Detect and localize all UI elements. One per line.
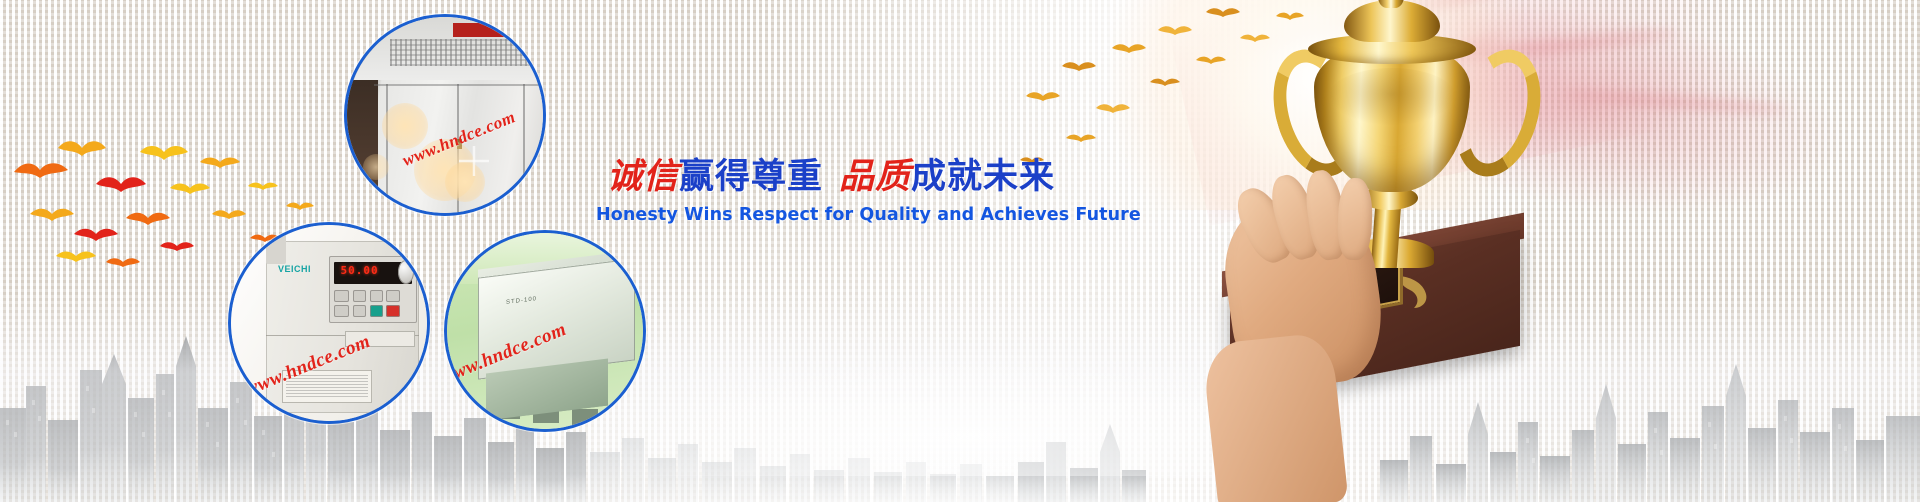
headline-subtitle: Honesty Wins Respect for Quality and Ach… [596,205,1066,225]
inverter-display-value: 50.00 [340,264,378,277]
trophy-engraving [1328,68,1456,126]
product-photo-inverter[interactable]: VEICHI 50.00 www.hndce.com [228,222,430,424]
finger-4 [1337,177,1374,260]
headline-segment1-red: 诚信 [607,157,679,197]
plaque-scroll-right-icon [1396,272,1434,312]
product-photo-transformer-box[interactable]: STD-100 STD-100 www.hndce.com [444,230,646,432]
product-photo-cabinet[interactable]: www.hndce.com [344,14,546,216]
wrist [1201,332,1348,502]
inverter-knob [398,260,414,284]
headline-segment2-red: 品质 [839,157,911,197]
headline-segment1-blue: 赢得尊重 [679,157,823,197]
promotional-banner: www.hndce.com VEICHI 50.00 [0,0,1920,502]
inverter-control-panel: 50.00 [329,256,417,323]
headline: 诚信赢得尊重品质成就未来 [596,160,1066,195]
veichi-brand-label: VEICHI [278,264,311,274]
gold-trophy-icon: No. 1 [1060,0,1600,502]
headline-segment2-blue: 成就未来 [911,157,1055,197]
